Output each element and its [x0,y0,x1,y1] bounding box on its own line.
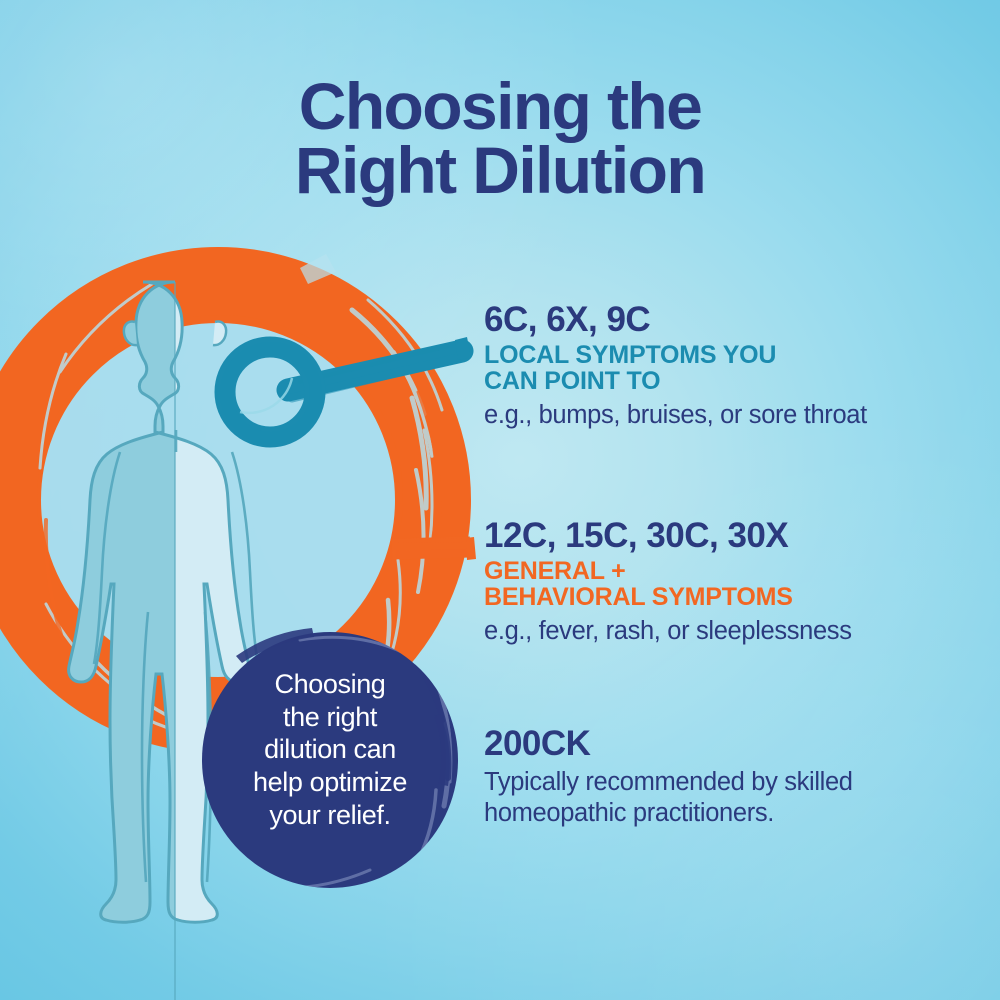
badge-line-3: dilution can [203,733,457,766]
dose-label-3: 200CK [484,726,984,761]
orange-brush-pointer-line [392,537,476,560]
dilution-entry-3: 200CK Typically recommended by skilled h… [484,726,984,829]
subhead-2: GENERAL + BEHAVIORAL SYMPTOMS [484,558,984,610]
badge-line-4: help optimize [203,766,457,799]
subhead-1-line-1: LOCAL SYMPTOMS YOU [484,342,984,368]
title-line-2: Right Dilution [0,138,1000,202]
subhead-1: LOCAL SYMPTOMS YOU CAN POINT TO [484,342,984,394]
subhead-2-line-1: GENERAL + [484,558,984,584]
dose-label-2: 12C, 15C, 30C, 30X [484,518,984,553]
title-line-1: Choosing the [299,69,701,143]
infographic-poster: Choosing the Right Dilution 6C, 6X, 9C L… [0,0,1000,1000]
subhead-1-line-2: CAN POINT TO [484,368,984,394]
example-3-line-2: homeopathic practitioners. [484,798,984,829]
example-2-line-1: e.g., fever, rash, or sleeplessness [484,616,984,647]
badge-line-1: Choosing [203,668,457,701]
example-text-3: Typically recommended by skilled homeopa… [484,767,984,829]
badge-line-5: your relief. [203,799,457,832]
dose-label-1: 6C, 6X, 9C [484,302,984,337]
badge-line-2: the right [203,701,457,734]
dilution-entry-2: 12C, 15C, 30C, 30X GENERAL + BEHAVIORAL … [484,518,984,647]
example-3-line-1: Typically recommended by skilled [484,767,984,798]
subhead-2-line-2: BEHAVIORAL SYMPTOMS [484,584,984,610]
badge-message: Choosing the right dilution can help opt… [203,668,457,831]
example-text-2: e.g., fever, rash, or sleeplessness [484,616,984,647]
example-1-line-1: e.g., bumps, bruises, or sore throat [484,400,984,431]
dilution-entry-1: 6C, 6X, 9C LOCAL SYMPTOMS YOU CAN POINT … [484,302,984,431]
example-text-1: e.g., bumps, bruises, or sore throat [484,400,984,431]
page-title: Choosing the Right Dilution [0,74,1000,202]
